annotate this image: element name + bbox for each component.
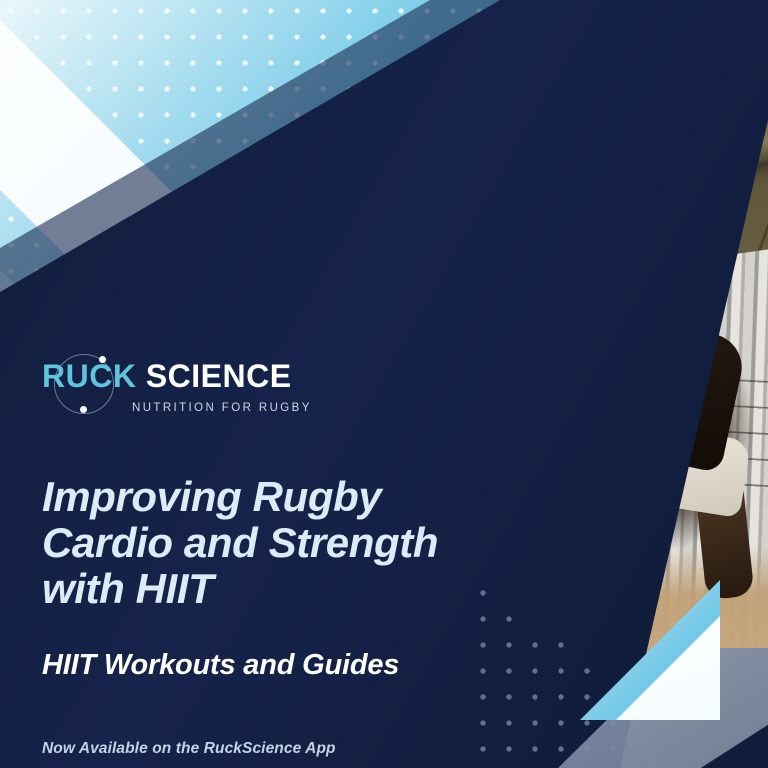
- brand-logo[interactable]: RUCK SCIENCE NUTRITION FOR RUGBY: [42, 352, 512, 428]
- logo-word-ruck: RUCK: [42, 358, 136, 394]
- content-block: RUCK SCIENCE NUTRITION FOR RUGBY Improvi…: [42, 352, 512, 758]
- availability-note: Now Available on the RuckScience App: [42, 740, 512, 758]
- subheadline: HIIT Workouts and Guides: [42, 649, 512, 682]
- logo-dot-bottom-icon: [80, 406, 87, 413]
- logo-tagline: NUTRITION FOR RUGBY: [132, 402, 312, 414]
- logo-wordmark: RUCK SCIENCE: [42, 358, 292, 395]
- headline: Improving Rugby Cardio and Strength with…: [42, 474, 462, 613]
- logo-word-science: SCIENCE: [136, 358, 291, 394]
- marketing-poster: RUCK SCIENCE NUTRITION FOR RUGBY Improvi…: [0, 0, 768, 768]
